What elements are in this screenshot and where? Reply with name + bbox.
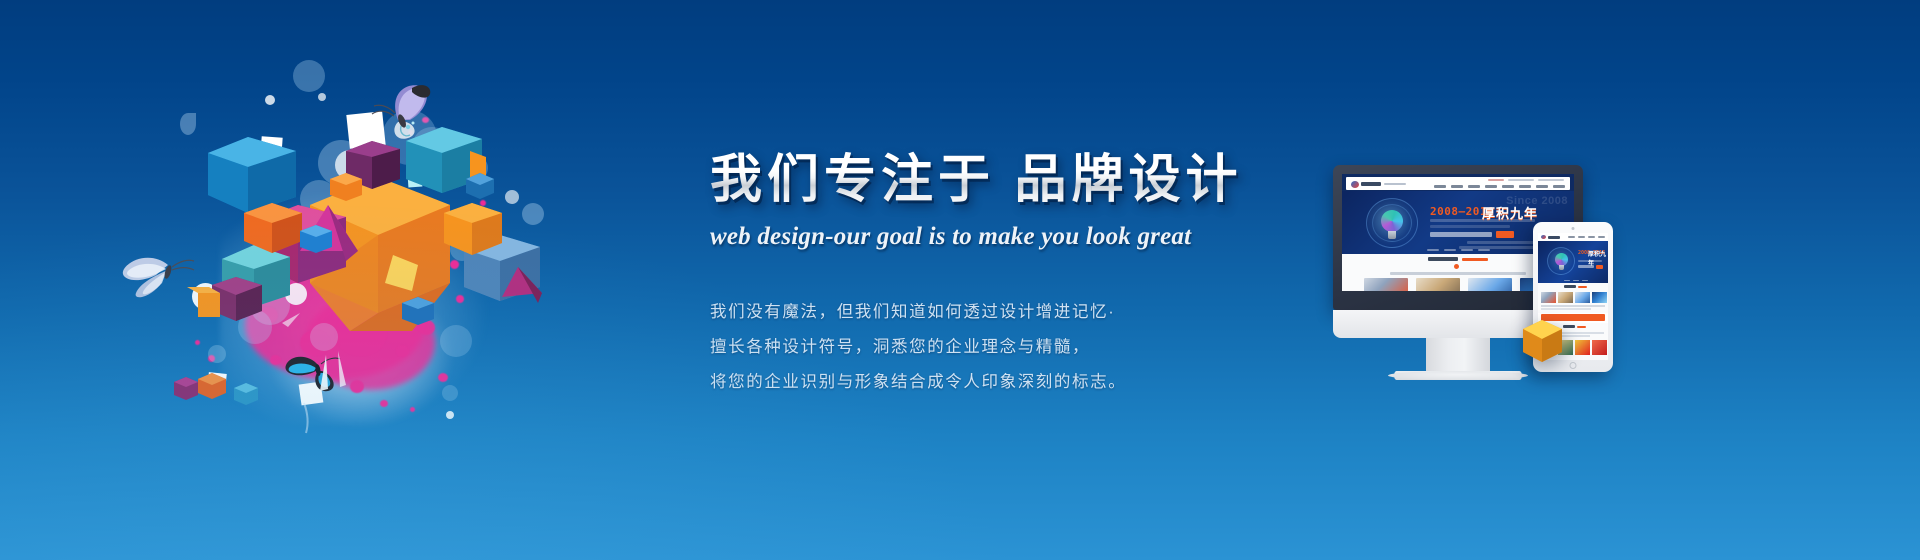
thumbnail: [1558, 292, 1573, 303]
menu-item: [1502, 185, 1514, 188]
page-subtitle: web design-our goal is to make you look …: [710, 223, 1270, 251]
case-thumbnail: [1592, 340, 1607, 355]
monitor-stand-foot: [1394, 371, 1522, 380]
menu-item: [1598, 236, 1605, 238]
thumbnail: [1541, 292, 1556, 303]
thumbnail: [1468, 278, 1512, 291]
case-thumbnail: [1575, 340, 1590, 355]
menu-item: [1451, 185, 1463, 188]
mock-site-logo-icon: [1351, 181, 1359, 188]
contact-extra: [1538, 179, 1564, 181]
hero-cta-button: [1496, 231, 1514, 238]
hero-description: 我们没有魔法，但我们知道如何透过设计增进记忆· 擅长各种设计符号，洞悉您的企业理…: [710, 295, 1270, 400]
artwork-cube-explosion: [150, 55, 610, 445]
menu-item: [1519, 185, 1531, 188]
contact-phone: [1488, 179, 1504, 181]
thumbnail: [1575, 292, 1590, 303]
mock-site-contact: [1488, 179, 1564, 181]
artwork-light-rays: [150, 55, 610, 445]
orange-cube-decoration: [1520, 318, 1564, 364]
section-marker: [1454, 264, 1459, 269]
description-line: 将您的企业识别与形象结合成令人印象深刻的标志。: [710, 365, 1270, 400]
lightbulb-network-icon: [1366, 198, 1418, 248]
menu-item: [1485, 185, 1497, 188]
menu-item: [1578, 236, 1585, 238]
section-thumbnails: [1541, 292, 1607, 303]
mock-site-logo-subtext: [1384, 183, 1406, 186]
description-line: 我们没有魔法，但我们知道如何透过设计增进记忆·: [710, 295, 1270, 330]
contact-email: [1508, 179, 1534, 181]
thumbnail: [1592, 292, 1607, 303]
hero-carousel-dots: [1564, 280, 1588, 282]
hero-banner: 我们专注于 品牌设计 web design-our goal is to mak…: [0, 0, 1920, 560]
lightbulb-network-icon: [1547, 247, 1575, 275]
mock-site-menu: [1434, 185, 1565, 188]
hero-cta-button: [1596, 265, 1603, 269]
mock-mobile-navbar: [1538, 233, 1608, 241]
menu-item: [1536, 185, 1548, 188]
mock-site-logo-text: [1361, 182, 1381, 187]
mock-mobile-menu: [1568, 236, 1605, 238]
description-line: 擅长各种设计符号，洞悉您的企业理念与精髓，: [710, 330, 1270, 365]
front-camera-icon: [1572, 227, 1575, 230]
menu-item: [1434, 185, 1446, 188]
mock-mobile-section-one: [1538, 283, 1608, 313]
thumbnail: [1364, 278, 1408, 291]
mock-site-navbar: [1346, 177, 1570, 190]
mock-mobile-logo-text: [1548, 236, 1560, 239]
thumbnail: [1416, 278, 1460, 291]
menu-item: [1568, 236, 1575, 238]
home-button-icon: [1570, 362, 1577, 369]
page-title: 我们专注于 品牌设计: [710, 150, 1270, 211]
menu-item: [1588, 236, 1595, 238]
mock-mobile-hero: 2008—2016 厚积九年: [1538, 241, 1608, 283]
mock-mobile-logo-icon: [1541, 235, 1546, 239]
hero-carousel-dots: [1427, 249, 1490, 252]
hero-copy: 我们专注于 品牌设计 web design-our goal is to mak…: [710, 150, 1270, 400]
device-mockups: Since 2008 2008—2016 厚积九年: [1325, 160, 1615, 390]
menu-item: [1468, 185, 1480, 188]
menu-item: [1553, 185, 1565, 188]
